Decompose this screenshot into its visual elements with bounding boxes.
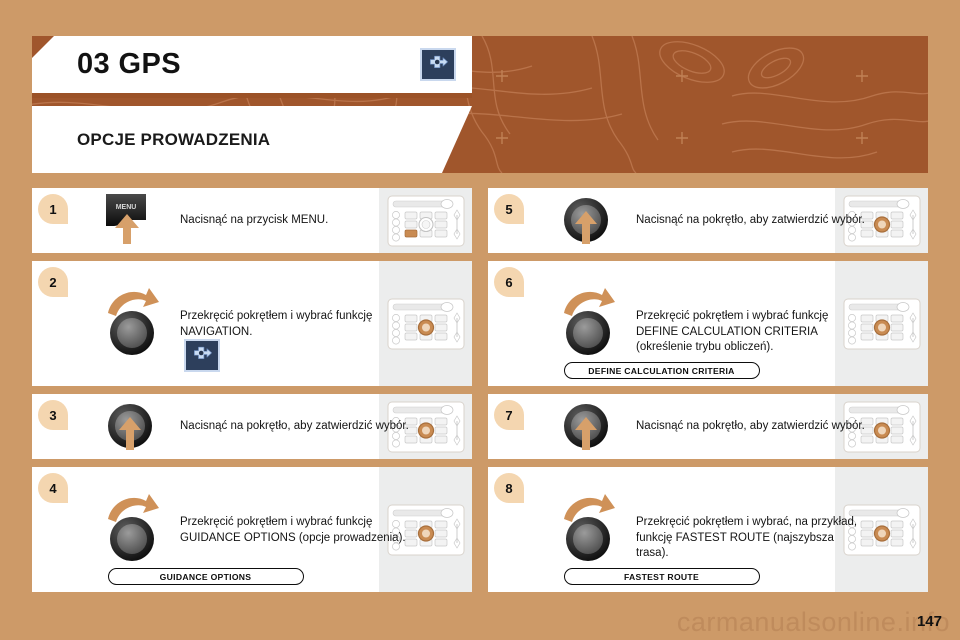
page-title: 03 GPS <box>77 50 181 79</box>
manual-page: 03 GPS OPCJE PROWADZENIA 1 <box>0 0 960 640</box>
chapter-title-tab: 03 GPS <box>32 36 472 93</box>
step-number-badge: 5 <box>494 194 524 224</box>
title-underline <box>32 93 472 98</box>
page-number: 147 <box>917 613 942 630</box>
navigation-gps-icon <box>420 48 456 81</box>
step-card-6: 6 <box>488 261 928 386</box>
step-number-badge: 6 <box>494 267 524 297</box>
step-description: Nacisnąć na pokrętło, aby zatwierdzić wy… <box>636 213 866 229</box>
menu-option-pill[interactable]: FASTEST ROUTE <box>564 568 760 585</box>
step-number-badge: 2 <box>38 267 68 297</box>
section-subtitle: OPCJE PROWADZENIA <box>77 130 270 150</box>
step-number-badge: 8 <box>494 473 524 503</box>
step-content-5: 5 <box>488 188 835 253</box>
step-card-1: 1 MENU Nacisnąć na przycisk MENU. <box>32 188 472 253</box>
rotary-knob-turn-illustration <box>102 285 166 357</box>
step-content-1: 1 MENU Nacisnąć na przycisk MENU. <box>32 188 379 253</box>
step-description: Nacisnąć na pokrętło, aby zatwierdzić wy… <box>636 419 866 435</box>
step-description: Przekręcić pokrętłem i wybrać, na przykł… <box>636 515 866 562</box>
step-description: Przekręcić pokrętłem i wybrać funkcję GU… <box>180 515 410 546</box>
page-header: 03 GPS OPCJE PROWADZENIA <box>32 36 928 173</box>
site-watermark: carmanualsonline.info <box>0 609 960 636</box>
rotary-knob-turn-illustration <box>102 491 166 563</box>
menu-button-illustration: MENU <box>102 192 162 250</box>
step-content-2: 2 <box>32 261 379 386</box>
step-content-3: 3 <box>32 394 379 459</box>
menu-option-pill[interactable]: DEFINE CALCULATION CRITERIA <box>564 362 760 379</box>
step-number-badge: 1 <box>38 194 68 224</box>
steps-grid: 1 MENU Nacisnąć na przycisk MENU. <box>32 188 928 606</box>
step-card-7: 7 <box>488 394 928 459</box>
step-number-badge: 4 <box>38 473 68 503</box>
menu-option-pill[interactable]: GUIDANCE OPTIONS <box>108 568 304 585</box>
step-card-2: 2 <box>32 261 472 386</box>
step-card-4: 4 <box>32 467 472 592</box>
step-content-8: 8 <box>488 467 835 592</box>
step-number-badge: 7 <box>494 400 524 430</box>
step-description: Przekręcić pokrętłem i wybrać funkcję DE… <box>636 309 866 356</box>
rotary-knob-press-illustration <box>560 196 616 252</box>
step-number-badge: 3 <box>38 400 68 430</box>
step-content-7: 7 <box>488 394 835 459</box>
rotary-knob-turn-illustration <box>558 491 622 563</box>
step-card-3: 3 <box>32 394 472 459</box>
section-subtitle-tab: OPCJE PROWADZENIA <box>32 106 472 173</box>
rotary-knob-press-illustration <box>104 402 160 458</box>
svg-text:MENU: MENU <box>116 204 137 211</box>
step-card-8: 8 <box>488 467 928 592</box>
step-description: Nacisnąć na pokrętło, aby zatwierdzić wy… <box>180 419 410 435</box>
navigation-gps-icon <box>184 339 220 372</box>
step-description: Przekręcić pokrętłem i wybrać funkcję NA… <box>180 309 410 340</box>
step-description: Nacisnąć na przycisk MENU. <box>180 213 410 229</box>
step-content-4: 4 <box>32 467 379 592</box>
step-card-5: 5 <box>488 188 928 253</box>
rotary-knob-turn-illustration <box>558 285 622 357</box>
step-content-6: 6 <box>488 261 835 386</box>
rotary-knob-press-illustration <box>560 402 616 458</box>
